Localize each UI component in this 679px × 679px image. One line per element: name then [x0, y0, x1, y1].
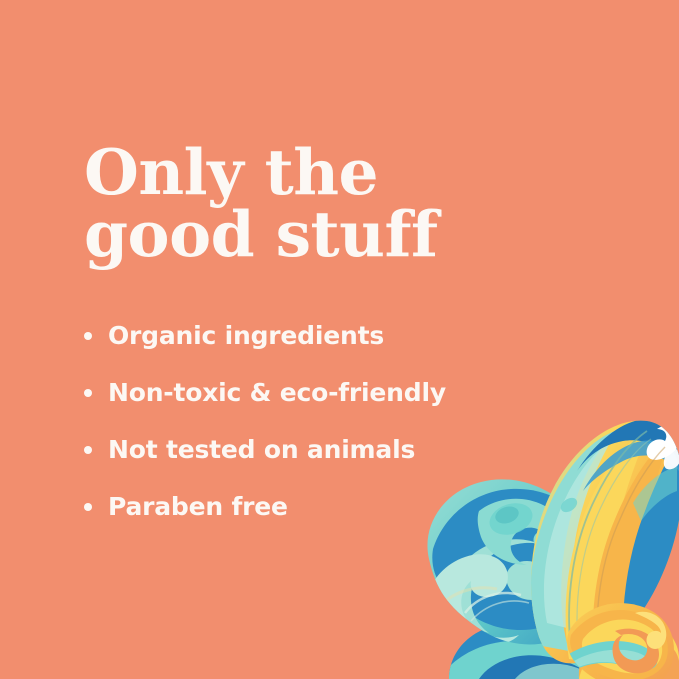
- promo-poster: Only the good stuff Organic ingredients …: [0, 0, 679, 679]
- poster-content: Only the good stuff Organic ingredients …: [84, 142, 604, 535]
- list-item: Paraben free: [84, 478, 604, 535]
- bullet-dot-icon: [84, 446, 92, 454]
- list-item: Non-toxic & eco-friendly: [84, 364, 604, 421]
- list-item: Not tested on animals: [84, 421, 604, 478]
- feature-list: Organic ingredients Non-toxic & eco-frie…: [84, 307, 604, 535]
- list-item-label: Non-toxic & eco-friendly: [108, 378, 446, 407]
- list-item-label: Organic ingredients: [108, 321, 384, 350]
- bullet-dot-icon: [84, 332, 92, 340]
- bullet-dot-icon: [84, 503, 92, 511]
- list-item: Organic ingredients: [84, 307, 604, 364]
- bullet-dot-icon: [84, 389, 92, 397]
- list-item-label: Not tested on animals: [108, 435, 415, 464]
- page-title: Only the good stuff: [84, 142, 604, 265]
- list-item-label: Paraben free: [108, 492, 288, 521]
